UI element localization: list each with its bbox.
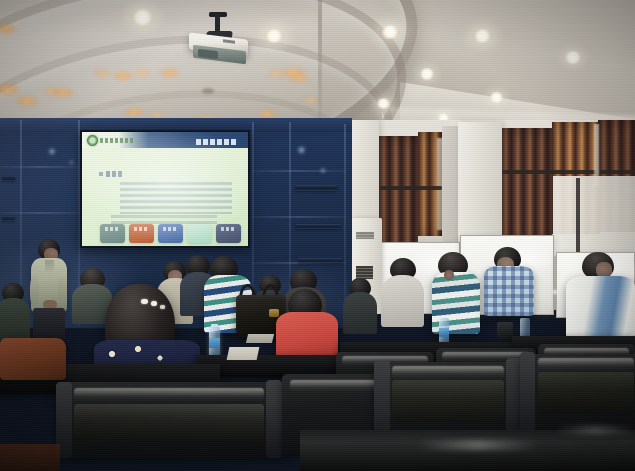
curtain-rod [500,170,635,174]
water-bottle-label [439,328,449,337]
presenter-arm-left [30,276,39,306]
chair-arm [266,380,282,458]
warm-cove-light [135,70,150,77]
wall-panel [553,176,635,256]
attendee-grey-shirt [381,275,424,327]
water-bottle-label [209,338,220,348]
warm-cove-light [290,74,308,82]
chair-back-panel [74,404,264,440]
presenter-collar [45,260,54,273]
chair-highlight [538,358,634,371]
warm-cove-light [124,108,144,116]
wall-post [576,178,580,256]
panel-seam [344,124,346,324]
ceiling-downlight [473,29,492,43]
warm-cove-light [160,69,179,77]
ceiling-downlight [131,9,154,26]
attendee-body [0,298,30,340]
hair-clip [151,301,157,306]
attendee-white-blue [566,276,635,338]
floor-reflection [556,426,635,434]
attendee-body [343,292,377,334]
chair-back-panel [538,372,634,414]
curtain-rod [378,186,442,190]
chair-highlight [392,366,504,379]
floor-reflection [418,440,538,450]
window-curtains [378,136,418,258]
warm-cove-light [52,88,74,97]
warm-cove-light [268,70,283,77]
floor-wood-edge [0,444,60,471]
warm-cove-light [16,96,38,106]
wall-specular-highlight [48,148,56,155]
wall-trim-bar [295,185,337,191]
chair-back-panel [392,380,504,422]
wall-specular-highlight [297,146,306,154]
dark-cup [497,322,513,339]
wall-trim-bar [296,224,340,229]
ceiling-downlight [419,68,435,80]
chair-arm [520,352,535,440]
paper-handout [246,334,274,343]
air-conditioner-top-vent [356,232,374,239]
wall-trim-bar [2,216,15,221]
warm-cove-light [113,72,133,80]
leather-bag-foreground [0,338,66,380]
whiteboard-highlight [553,290,557,294]
wall-trim-bar [298,258,342,263]
ceiling-downlight [264,29,284,43]
ceiling-downlight [489,92,504,103]
smoke-detector-icon [202,88,214,94]
panel-seam [252,216,346,218]
ceiling-downlight [564,51,582,64]
window-curtains [500,128,552,246]
ceiling-downlight [376,98,391,109]
wall-pillar [442,126,458,254]
attendee-blue-plaid [484,266,534,316]
ceiling-downlight [380,25,400,39]
wall-trim-bar [2,176,15,181]
presenter-arm-right [58,278,67,306]
hair-clip [141,299,148,304]
projector-beam-glow [82,132,248,246]
attendee-ear [444,270,454,280]
wall-specular-highlight [320,168,326,173]
lecture-room-photograph [0,0,635,471]
chair-highlight [74,388,264,402]
panel-seam [252,170,346,172]
floor [300,430,635,471]
warm-cove-light [304,98,318,104]
warm-cove-light [258,110,276,118]
hair-clip [160,305,165,309]
paper-handout [227,347,260,360]
handbag-clasp [269,309,279,317]
panel-seam [0,166,80,168]
panel-seam [0,212,80,214]
wall-specular-highlight [69,160,74,165]
warm-cove-light [94,70,110,77]
